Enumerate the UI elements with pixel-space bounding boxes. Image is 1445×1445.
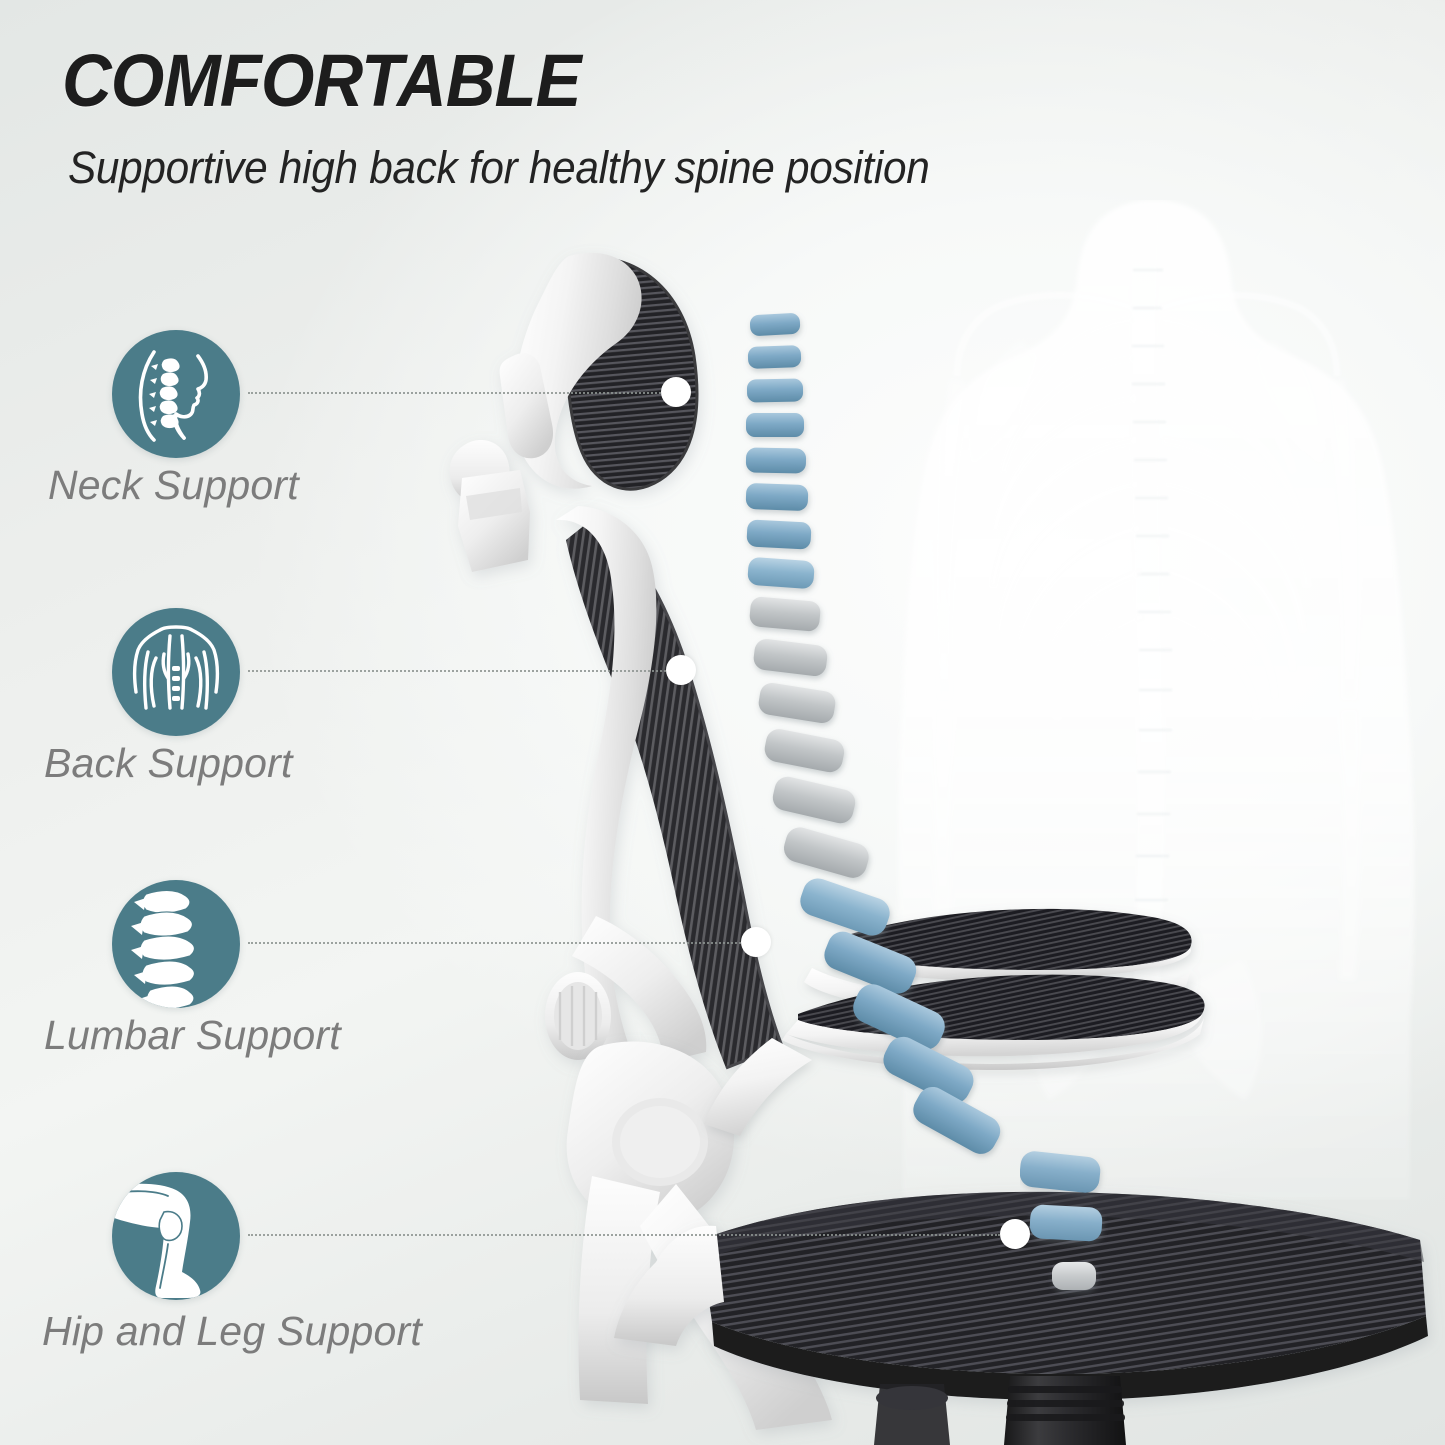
page-title: COMFORTABLE bbox=[62, 38, 581, 123]
page-subtitle: Supportive high back for healthy spine p… bbox=[68, 142, 930, 194]
stylized-spine-column-tail bbox=[1020, 1150, 1280, 1410]
lumbar-vertebrae-icon bbox=[112, 880, 240, 1008]
feature-label-neck-support: Neck Support bbox=[48, 462, 299, 509]
feature-label-lumbar-support: Lumbar Support bbox=[44, 1012, 341, 1059]
leader-line-hip-and-leg-support bbox=[248, 1234, 1000, 1236]
leader-line-neck-support bbox=[248, 392, 673, 394]
product-feature-infographic: COMFORTABLE Supportive high back for hea… bbox=[0, 0, 1445, 1445]
bent-leg-knee-icon bbox=[112, 1172, 240, 1300]
stylized-spine-column bbox=[700, 270, 1040, 1200]
neck-spine-profile-icon bbox=[112, 330, 240, 458]
feature-label-back-support: Back Support bbox=[44, 740, 293, 787]
headrest bbox=[450, 253, 697, 572]
feature-label-hip-and-leg-support: Hip and Leg Support bbox=[42, 1308, 422, 1355]
callout-dot-back-support bbox=[666, 655, 696, 685]
leader-line-lumbar-support bbox=[248, 942, 748, 944]
back-torso-spine-icon bbox=[112, 608, 240, 736]
leader-line-back-support bbox=[248, 670, 678, 672]
callout-dot-hip-and-leg-support bbox=[1000, 1219, 1030, 1249]
callout-dot-neck-support bbox=[661, 377, 691, 407]
callout-dot-lumbar-support bbox=[741, 927, 771, 957]
